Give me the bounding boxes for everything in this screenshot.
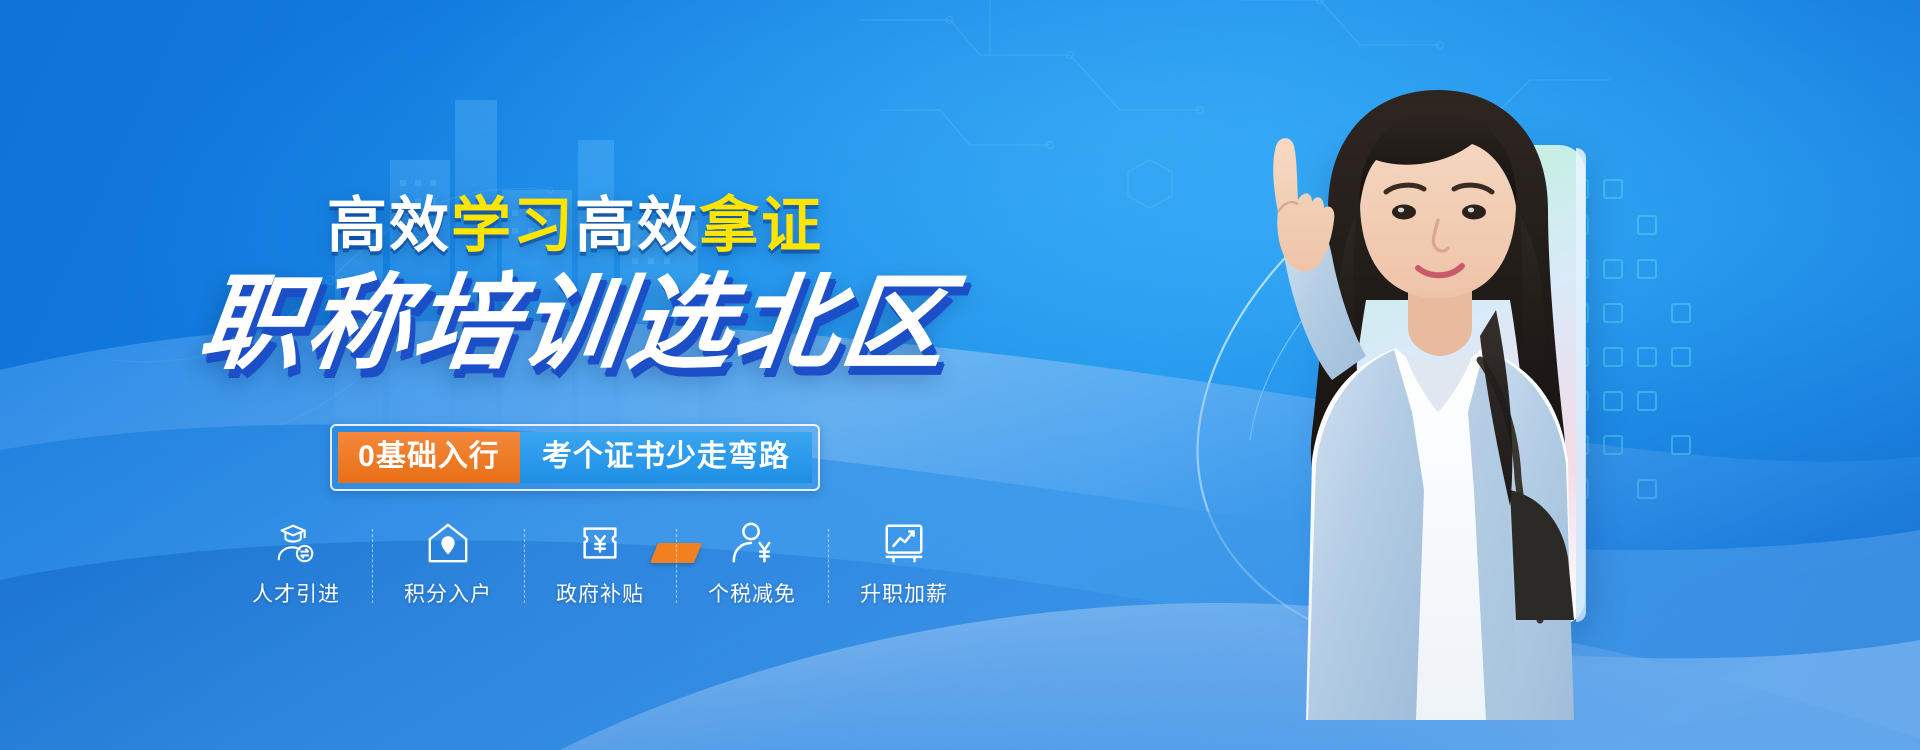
house-pin-icon xyxy=(425,520,471,566)
feature-divider xyxy=(676,529,677,603)
hero-figure xyxy=(1180,0,1920,750)
feature-label: 个税减免 xyxy=(708,578,796,608)
subhead-seg-4: 拿证 xyxy=(699,192,823,259)
feature-item-gov-subsidy[interactable]: 政府补贴 xyxy=(534,520,666,608)
headline-wrapper: 职称培训选北区 xyxy=(0,272,1150,376)
feature-label: 升职加薪 xyxy=(860,578,948,608)
feature-item-points-residency[interactable]: 积分入户 xyxy=(382,520,514,608)
feature-divider xyxy=(828,529,829,603)
graduate-exchange-icon xyxy=(273,520,319,566)
feature-label: 人才引进 xyxy=(252,578,340,608)
feature-item-talent-intro[interactable]: 人才引进 xyxy=(230,520,362,608)
feature-divider xyxy=(524,529,525,603)
promo-banner: 239 xyxy=(0,0,1920,750)
subhead-seg-2: 学习 xyxy=(451,192,575,259)
chart-board-up-icon xyxy=(881,520,927,566)
feature-divider xyxy=(372,529,373,603)
feature-label: 积分入户 xyxy=(404,578,492,608)
tagline-pill[interactable]: 0基础入行 考个证书少走弯路 xyxy=(330,424,820,491)
subhead-seg-3: 高效 xyxy=(575,192,699,259)
feature-label: 政府补贴 xyxy=(556,578,644,608)
tagline-row: 0基础入行 考个证书少走弯路 xyxy=(0,424,1150,491)
main-headline: 职称培训选北区 xyxy=(194,272,956,376)
person-yuan-icon xyxy=(729,520,775,566)
feature-item-promotion-raise[interactable]: 升职加薪 xyxy=(838,520,970,608)
feature-list: 人才引进 积分入户 政府补贴 xyxy=(230,520,970,608)
feature-item-tax-reduction[interactable]: 个税减免 xyxy=(686,520,818,608)
person-illustration xyxy=(1180,60,1700,720)
tagline-highlight: 0基础入行 xyxy=(338,432,520,483)
voucher-yuan-icon xyxy=(577,520,623,566)
subhead-seg-1: 高效 xyxy=(327,192,451,259)
banner-content: 高效学习高效拿证 职称培训选北区 0基础入行 考个证书少走弯路 xyxy=(0,0,1150,750)
sub-headline: 高效学习高效拿证 xyxy=(0,196,1150,256)
tagline-sub: 考个证书少走弯路 xyxy=(520,432,812,483)
